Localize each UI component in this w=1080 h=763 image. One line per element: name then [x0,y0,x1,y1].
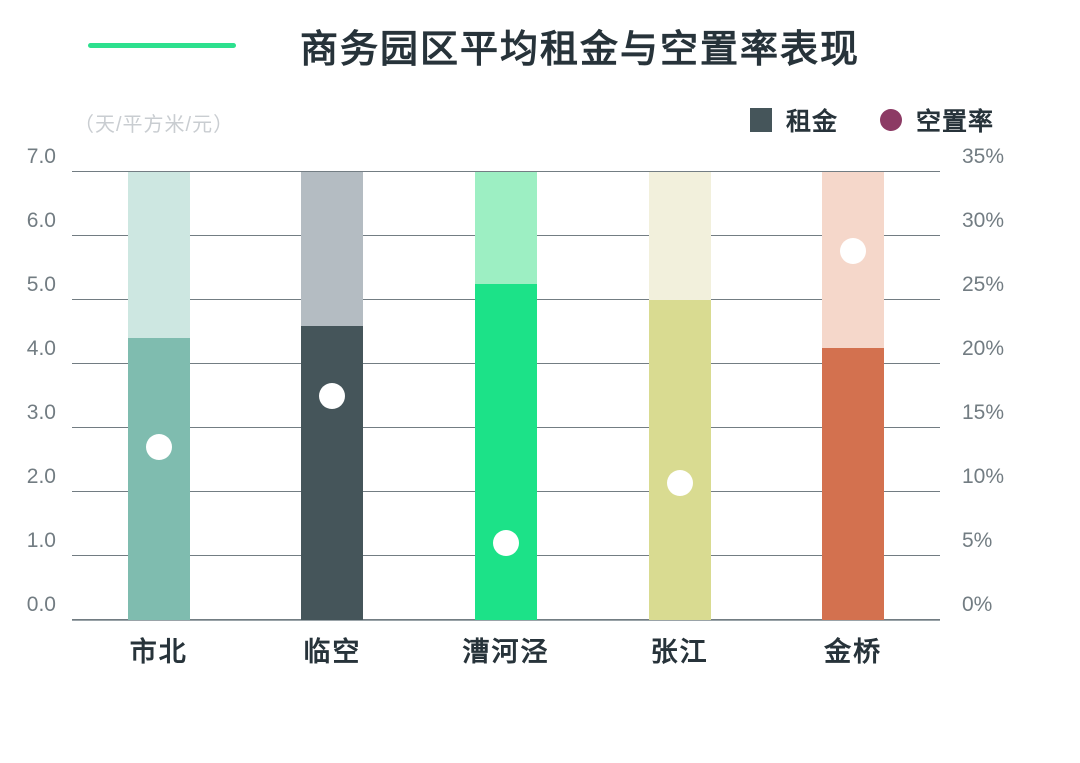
title-accent-rule [88,43,236,48]
circle-swatch-icon [880,109,902,131]
bar-slot [766,172,940,620]
y-axis-right-tick: 30% [962,209,1004,233]
y-axis-unit-label: （天/平方米/元） [74,108,234,137]
plot-area: 7.035%6.030%5.025%4.020%3.015%2.010%1.05… [0,158,1080,658]
y-axis-left-tick: 7.0 [27,145,56,169]
bar-column[interactable] [475,172,537,620]
bar-column[interactable] [301,172,363,620]
bar-column[interactable] [822,172,884,620]
bar-value[interactable] [475,284,537,620]
bar-value[interactable] [649,300,711,620]
y-axis-right-tick: 35% [962,145,1004,169]
y-axis-right-tick: 5% [962,529,992,553]
y-axis-left-tick: 3.0 [27,401,56,425]
x-axis-label: 市北 [72,630,246,669]
y-axis-left-tick: 5.0 [27,273,56,297]
bar-column[interactable] [128,172,190,620]
chart-header: 商务园区平均租金与空置率表现 [0,0,1080,56]
page-title: 商务园区平均租金与空置率表现 [300,18,860,73]
y-axis-right-tick: 25% [962,273,1004,297]
x-axis-label: 金桥 [766,630,940,669]
bar-slot [593,172,767,620]
y-axis-left-tick: 2.0 [27,465,56,489]
x-axis-label: 漕河泾 [419,630,593,669]
y-axis-right-tick: 10% [962,465,1004,489]
vacancy-rate-dot[interactable] [493,530,519,556]
y-axis-left-tick: 4.0 [27,337,56,361]
y-axis-right-tick: 20% [962,337,1004,361]
bar-column[interactable] [649,172,711,620]
plot-canvas: 7.035%6.030%5.025%4.020%3.015%2.010%1.05… [72,172,940,620]
vacancy-rate-dot[interactable] [146,434,172,460]
y-axis-left-tick: 0.0 [27,593,56,617]
x-axis-label: 临空 [246,630,420,669]
x-axis-label: 张江 [593,630,767,669]
bar-slot [72,172,246,620]
vacancy-rate-dot[interactable] [667,470,693,496]
x-axis-labels: 市北临空漕河泾张江金桥 [72,630,940,669]
legend-label: 租金 [786,102,838,138]
bar-value[interactable] [822,348,884,620]
y-axis-right-tick: 15% [962,401,1004,425]
bar-slot [419,172,593,620]
y-axis-right-tick: 0% [962,593,992,617]
bar-slot [246,172,420,620]
y-axis-left-tick: 1.0 [27,529,56,553]
bar-group [72,172,940,620]
legend-label: 空置率 [916,102,994,138]
chart-legend: 租金空置率 [750,102,994,138]
legend-item-2[interactable]: 空置率 [880,102,994,138]
bar-value[interactable] [301,326,363,620]
x-axis-line [72,620,940,621]
y-axis-left-tick: 6.0 [27,209,56,233]
chart-subheader: （天/平方米/元） 租金空置率 [0,100,1080,152]
legend-item-1[interactable]: 租金 [750,102,838,138]
bar-value[interactable] [128,338,190,620]
square-swatch-icon [750,108,772,132]
